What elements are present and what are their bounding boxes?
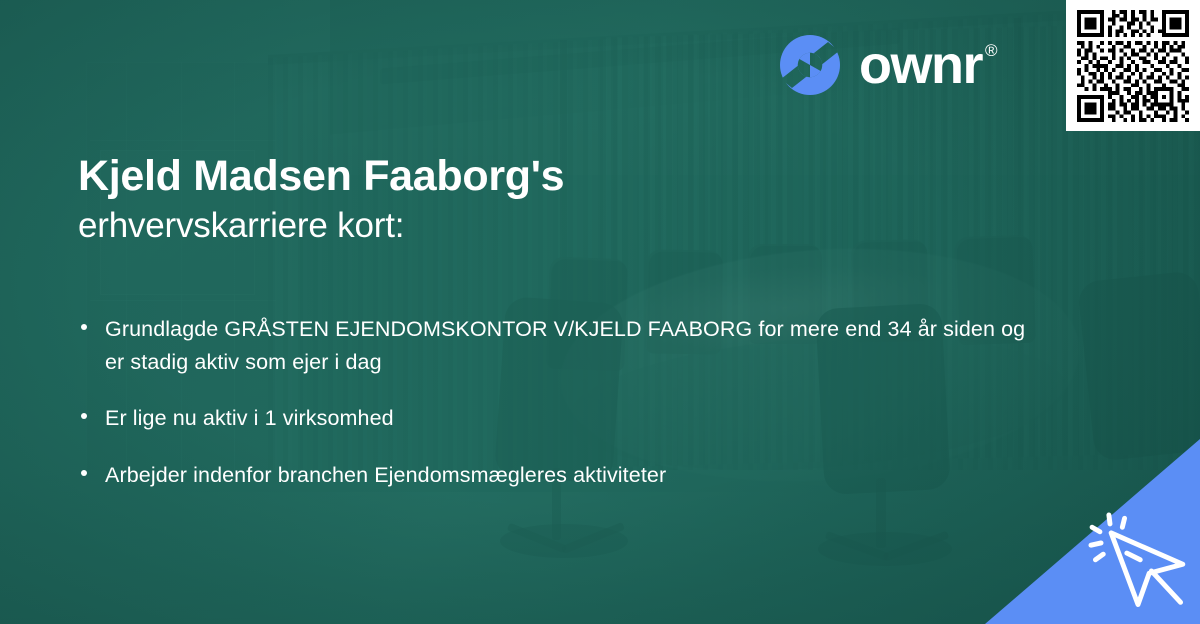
list-item: Er lige nu aktiv i 1 virksomhed — [78, 402, 1038, 435]
page-title: Kjeld Madsen Faaborg's erhvervskarriere … — [78, 152, 898, 247]
brand-name: ownr — [859, 38, 982, 92]
bullet-dot-icon — [81, 470, 87, 476]
career-facts-list: Grundlagde GRÅSTEN EJENDOMSKONTOR V/KJEL… — [78, 313, 1038, 492]
qr-code-icon — [1077, 10, 1189, 122]
headline-line-1: Kjeld Madsen Faaborg's — [78, 152, 898, 201]
list-item: Arbejder indenfor branchen Ejendomsmægle… — [78, 459, 1038, 492]
list-item-text: Arbejder indenfor branchen Ejendomsmægle… — [105, 463, 666, 487]
qr-code-panel[interactable] — [1066, 0, 1200, 131]
card-content: ownr ® — [0, 0, 1200, 624]
ownr-circle-logo-icon — [778, 33, 842, 97]
list-item-text: Grundlagde GRÅSTEN EJENDOMSKONTOR V/KJEL… — [105, 317, 1025, 374]
list-item-text: Er lige nu aktiv i 1 virksomhed — [105, 406, 394, 430]
headline-line-2: erhvervskarriere kort: — [78, 205, 898, 247]
brand-wordmark: ownr ® — [859, 38, 996, 92]
promo-card: ownr ® — [0, 0, 1200, 624]
bullet-dot-icon — [81, 324, 87, 330]
click-cursor-icon — [1082, 506, 1194, 618]
brand-lockup[interactable]: ownr ® — [778, 33, 996, 97]
list-item: Grundlagde GRÅSTEN EJENDOMSKONTOR V/KJEL… — [78, 313, 1038, 378]
bullet-dot-icon — [81, 413, 87, 419]
registered-mark: ® — [985, 42, 996, 59]
